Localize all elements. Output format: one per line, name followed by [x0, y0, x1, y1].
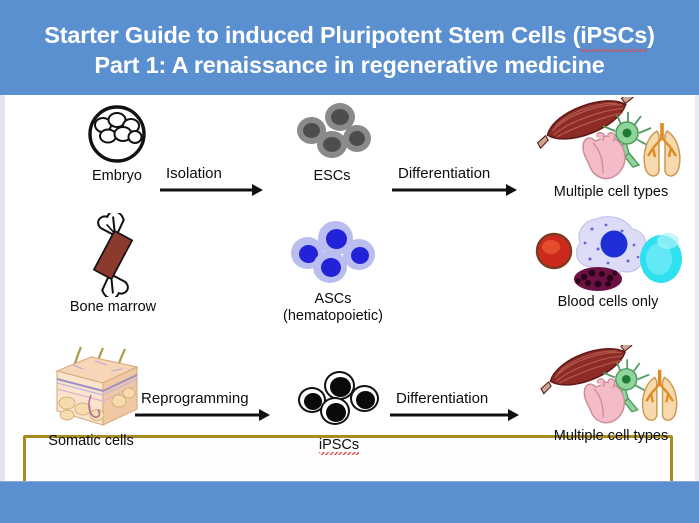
- arrow-differentiation-bottom: Differentiation: [390, 390, 520, 422]
- asc-cell-cluster-icon: [291, 221, 375, 283]
- footer-top-hairline: [0, 481, 699, 482]
- node-multiple-cell-types-bottom: Multiple cell types: [527, 345, 695, 445]
- arrow-differentiation-top: Differentiation: [392, 165, 518, 197]
- blood-cells-icon: [522, 215, 694, 293]
- node-ascs-sublabel: (hematopoietic): [283, 308, 383, 325]
- arrow-reprogramming-label: Reprogramming: [135, 390, 249, 407]
- title-text-part-3: ): [647, 22, 655, 48]
- node-somatic-cells-label: Somatic cells: [48, 433, 133, 450]
- bone-marrow-icon: [73, 213, 153, 297]
- arrow-isolation-label: Isolation: [160, 165, 222, 182]
- node-ipscs-label-text: iPSCs: [319, 437, 359, 454]
- slide-root: Starter Guide to induced Pluripotent Ste…: [0, 0, 699, 523]
- node-embryo-label: Embryo: [92, 168, 142, 185]
- asc-cell: [343, 239, 375, 270]
- esc-cell-cluster-icon: [295, 103, 369, 159]
- panel-left-edge: [0, 95, 5, 481]
- title-text-part-1: Starter Guide to induced Pluripotent Ste…: [44, 22, 580, 48]
- page-title-line-2: Part 1: A renaissance in regenerative me…: [94, 51, 604, 81]
- diagram-panel: Embryo Isolation ESCs Differentiation: [0, 95, 699, 481]
- node-blood-cells-label: Blood cells only: [558, 294, 659, 311]
- node-blood-cells: Blood cells only: [520, 215, 696, 311]
- ipsc-cell: [320, 397, 350, 425]
- node-ascs-label: ASCs: [314, 291, 351, 308]
- asc-cell: [313, 251, 347, 283]
- arrow-isolation-icon: [160, 183, 264, 197]
- multiple-cell-types-icon: [529, 97, 693, 183]
- node-multiple-cell-types-top-label: Multiple cell types: [554, 184, 668, 201]
- node-multiple-cell-types-bottom-label: Multiple cell types: [554, 428, 668, 445]
- slide-footer: [0, 481, 699, 523]
- ipsc-cell-cluster-icon: [298, 371, 380, 427]
- arrow-differentiation-bottom-label: Differentiation: [390, 390, 488, 407]
- node-ascs: ASCs (hematopoietic): [275, 221, 391, 324]
- esc-cell: [343, 125, 371, 152]
- node-bone-marrow-label: Bone marrow: [70, 299, 156, 316]
- node-ipscs: iPSCs: [287, 371, 391, 454]
- node-escs-label: ESCs: [313, 168, 350, 185]
- arrow-reprogramming-icon: [135, 408, 271, 422]
- node-embryo: Embryo: [57, 103, 177, 185]
- page-title-line-1: Starter Guide to induced Pluripotent Ste…: [44, 21, 655, 51]
- arrow-reprogramming: Reprogramming: [135, 390, 271, 422]
- node-escs: ESCs: [282, 103, 382, 185]
- arrow-differentiation-top-label: Differentiation: [392, 165, 490, 182]
- slide-header: Starter Guide to induced Pluripotent Ste…: [0, 0, 699, 95]
- arrow-isolation: Isolation: [160, 165, 264, 197]
- node-multiple-cell-types-top: Multiple cell types: [527, 97, 695, 201]
- skin-block-icon: [37, 345, 145, 431]
- node-bone-marrow: Bone marrow: [33, 213, 193, 316]
- title-ipscs-token: iPSCs: [580, 21, 647, 51]
- ipsc-cell: [350, 385, 379, 412]
- arrow-differentiation-top-icon: [392, 183, 518, 197]
- arrow-differentiation-bottom-icon: [390, 408, 520, 422]
- node-ipscs-label: iPSCs: [319, 437, 359, 454]
- embryo-blastocyst-icon: [86, 103, 148, 165]
- multiple-cell-types-icon: [531, 345, 691, 427]
